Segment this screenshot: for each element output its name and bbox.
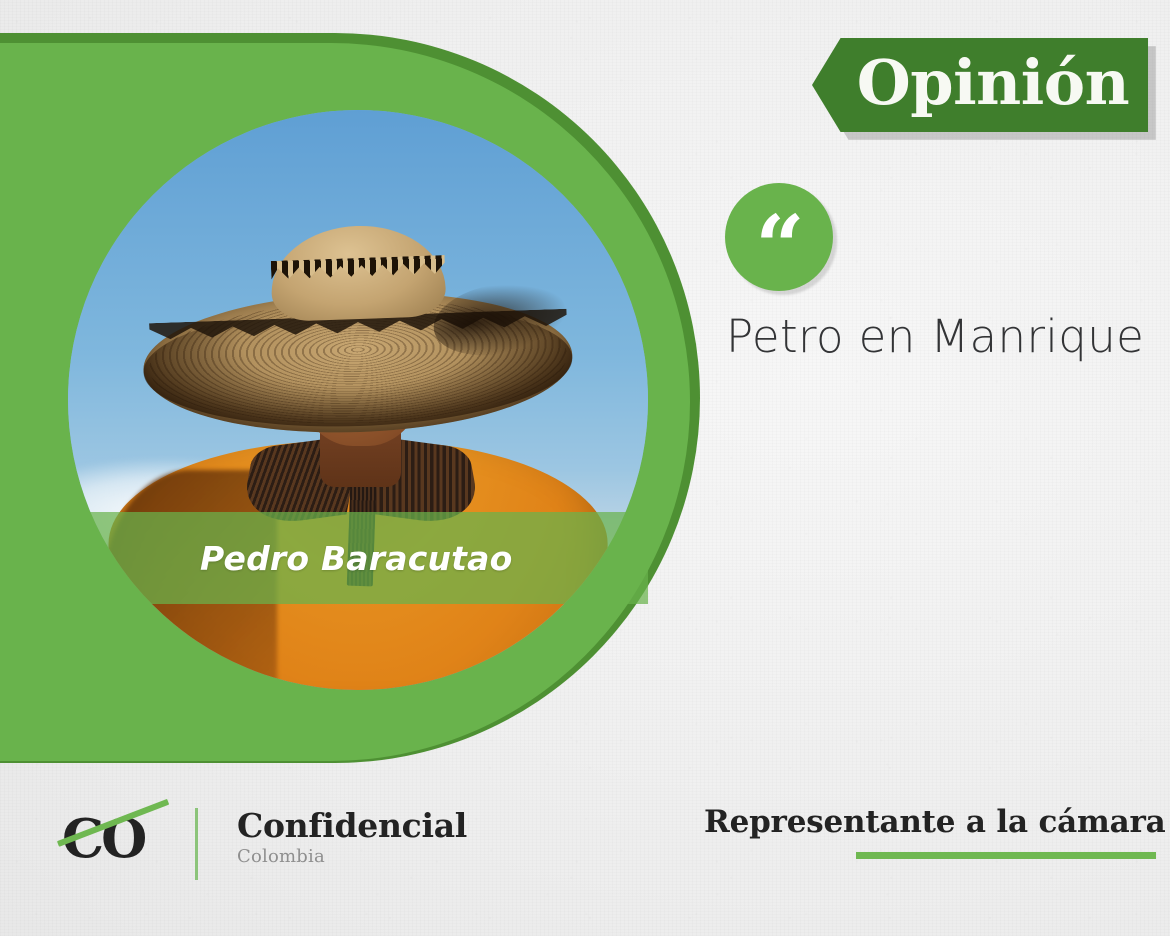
opinion-banner-label: Opinión	[831, 52, 1129, 118]
portrait-name-label: Pedro Baracutao	[200, 539, 512, 578]
portrait-name-band: Pedro Baracutao	[68, 512, 648, 604]
quote-badge: “	[725, 183, 833, 291]
headline-title: Petro en Manrique	[726, 310, 1156, 363]
quote-mark-icon: “	[755, 205, 802, 291]
logo-wordmark-sub: Colombia	[237, 846, 467, 868]
opinion-banner: Opinión	[812, 38, 1156, 140]
logo-divider	[195, 808, 198, 880]
role-label: Representante a la cámara	[704, 802, 1156, 842]
role-underline	[856, 852, 1156, 859]
logo-mark: CO	[62, 808, 170, 870]
logo-wordmark: Confidencial Colombia	[237, 806, 467, 868]
opinion-card: Pedro Baracutao Opinión “ Petro en Manri…	[0, 0, 1170, 936]
opinion-banner-shape: Opinión	[812, 38, 1148, 132]
role-block: Representante a la cámara	[704, 802, 1156, 859]
logo-wordmark-main: Confidencial	[237, 806, 467, 846]
brand-logo[interactable]: CO Confidencial Colombia	[62, 806, 482, 888]
